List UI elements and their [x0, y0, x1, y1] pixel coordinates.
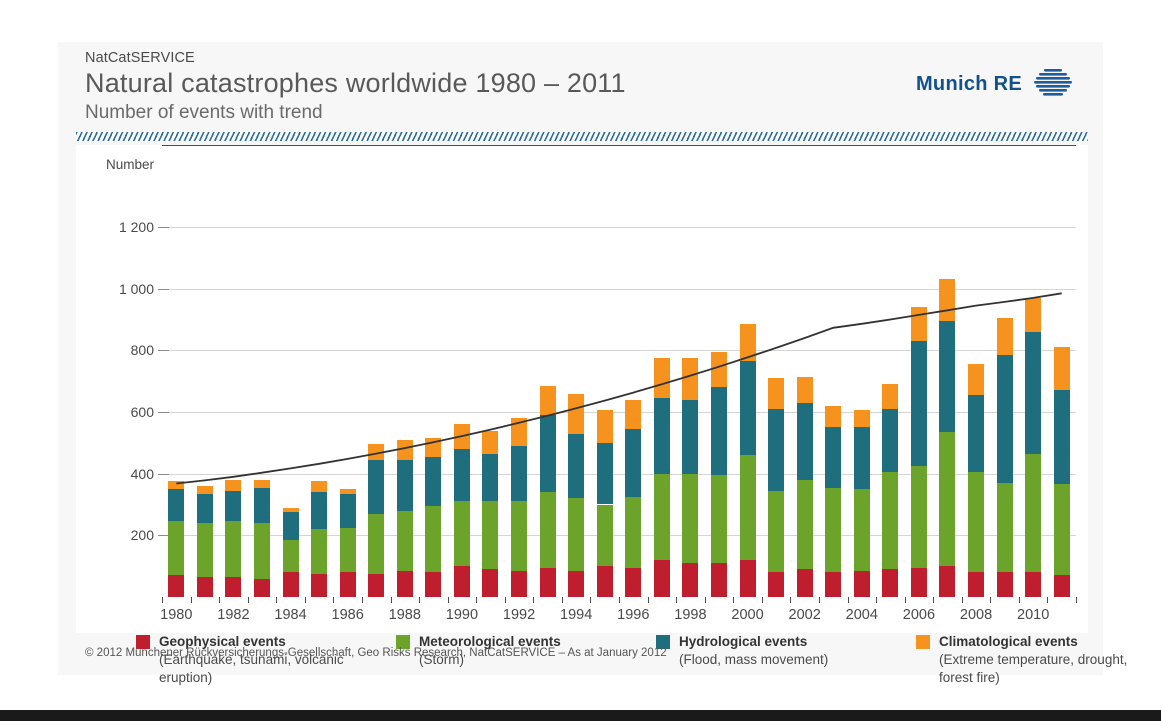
bar-segment [797, 403, 813, 480]
bar-1994[interactable] [568, 227, 584, 597]
bar-1988[interactable] [397, 227, 413, 597]
bar-1983[interactable] [254, 227, 270, 597]
bar-segment [482, 454, 498, 502]
bar-1986[interactable] [340, 227, 356, 597]
bar-segment [740, 560, 756, 597]
bar-segment [197, 486, 213, 494]
bar-segment [968, 395, 984, 472]
x-tick-label: 1996 [617, 607, 649, 623]
x-tick [248, 597, 249, 603]
x-tick [162, 597, 163, 603]
bar-segment [540, 492, 556, 568]
bar-segment [740, 455, 756, 560]
bar-segment [540, 415, 556, 492]
x-tick [819, 597, 820, 603]
bar-2011[interactable] [1054, 227, 1070, 597]
y-axis-title: Number [106, 157, 154, 172]
x-tick [505, 597, 506, 603]
bar-segment [911, 466, 927, 568]
bar-segment [711, 387, 727, 475]
bar-segment [882, 384, 898, 409]
bar-1995[interactable] [597, 227, 613, 597]
bar-1981[interactable] [197, 227, 213, 597]
bar-segment [340, 494, 356, 528]
bar-1985[interactable] [311, 227, 327, 597]
bar-segment [740, 361, 756, 455]
bar-segment [682, 358, 698, 400]
bar-segment [654, 358, 670, 398]
bar-segment [397, 511, 413, 571]
bar-1998[interactable] [682, 227, 698, 597]
x-tick-label: 1992 [503, 607, 535, 623]
x-tick [933, 597, 934, 603]
bar-segment [768, 409, 784, 491]
eyebrow-label: NatCatSERVICE [85, 50, 195, 66]
x-tick-label: 1984 [274, 607, 306, 623]
bar-segment [540, 386, 556, 415]
y-tick-label: 1 200 [84, 219, 154, 235]
bar-segment [1054, 484, 1070, 575]
bar-segment [597, 410, 613, 442]
x-tick-label: 1986 [332, 607, 364, 623]
slide-footer: © 2012 Münchener Rückversicherungs-Gesel… [58, 639, 1103, 675]
bar-segment [968, 364, 984, 395]
bar-segment [283, 508, 299, 513]
bar-segment [682, 400, 698, 474]
bar-segment [711, 352, 727, 387]
bar-segment [597, 566, 613, 597]
x-tick-label: 1990 [446, 607, 478, 623]
bar-segment [654, 474, 670, 560]
bar-segment [682, 474, 698, 563]
x-tick [1047, 597, 1048, 603]
bar-segment [997, 483, 1013, 572]
bar-segment [854, 489, 870, 571]
bar-2002[interactable] [797, 227, 813, 597]
x-tick [733, 597, 734, 603]
bar-segment [425, 572, 441, 597]
bar-segment [854, 571, 870, 597]
bar-segment [225, 480, 241, 491]
slide-page: NatCatSERVICE Natural catastrophes world… [0, 0, 1161, 725]
x-tick [1076, 597, 1077, 603]
bar-segment [882, 472, 898, 569]
x-tick [990, 597, 991, 603]
bar-1989[interactable] [425, 227, 441, 597]
bar-1999[interactable] [711, 227, 727, 597]
bar-segment [254, 488, 270, 523]
bar-segment [340, 528, 356, 573]
bar-segment [254, 579, 270, 598]
bar-segment [511, 571, 527, 597]
x-tick [362, 597, 363, 603]
bar-segment [454, 449, 470, 501]
bar-segment [340, 572, 356, 597]
x-tick [219, 597, 220, 603]
bar-segment [311, 574, 327, 597]
bar-1990[interactable] [454, 227, 470, 597]
x-tick-label: 2010 [1017, 607, 1049, 623]
x-axis-line [162, 145, 1076, 146]
bar-segment [397, 571, 413, 597]
x-tick-label: 1994 [560, 607, 592, 623]
bar-segment [425, 506, 441, 572]
bar-segment [425, 457, 441, 506]
x-tick [619, 597, 620, 603]
x-tick [790, 597, 791, 603]
bar-segment [283, 572, 299, 597]
x-tick [533, 597, 534, 603]
bar-2004[interactable] [854, 227, 870, 597]
bar-segment [254, 480, 270, 488]
bar-segment [197, 494, 213, 523]
bar-segment [740, 324, 756, 361]
bottom-bar [0, 710, 1161, 721]
bar-segment [711, 475, 727, 563]
bar-segment [882, 569, 898, 597]
bar-segment [797, 377, 813, 403]
bar-segment [511, 446, 527, 502]
bar-segment [625, 400, 641, 429]
bar-segment [340, 489, 356, 494]
bar-segment [511, 418, 527, 446]
x-tick-label: 2006 [903, 607, 935, 623]
bar-segment [939, 321, 955, 432]
page-subtitle: Number of events with trend [85, 102, 323, 124]
copyright-text: © 2012 Münchener Rückversicherungs-Gesel… [85, 647, 667, 659]
bar-segment [311, 529, 327, 574]
bar-1991[interactable] [482, 227, 498, 597]
bar-segment [825, 572, 841, 597]
bar-segment [911, 307, 927, 341]
bar-segment [168, 521, 184, 575]
bar-segment [197, 523, 213, 577]
bar-segment [225, 521, 241, 577]
y-tick-label: 200 [84, 527, 154, 543]
bar-segment [568, 394, 584, 434]
bar-segment [454, 501, 470, 566]
x-tick [648, 597, 649, 603]
bar-segment [568, 498, 584, 570]
bar-segment [482, 501, 498, 569]
bar-1982[interactable] [225, 227, 241, 597]
slide-card: NatCatSERVICE Natural catastrophes world… [58, 42, 1103, 675]
bar-segment [825, 427, 841, 487]
bar-segment [368, 460, 384, 514]
bar-segment [825, 488, 841, 573]
x-tick [333, 597, 334, 603]
bar-segment [1054, 575, 1070, 597]
x-tick [391, 597, 392, 603]
hatched-divider [76, 132, 1088, 141]
bar-segment [997, 355, 1013, 483]
bar-2008[interactable] [968, 227, 984, 597]
bar-segment [368, 444, 384, 459]
y-tick-label: 800 [84, 342, 154, 358]
bar-segment [797, 480, 813, 569]
bar-segment [540, 568, 556, 597]
bar-segment [368, 574, 384, 597]
bar-segment [568, 571, 584, 597]
x-tick [905, 597, 906, 603]
bar-segment [1025, 298, 1041, 332]
x-tick [848, 597, 849, 603]
bar-segment [968, 572, 984, 597]
bar-2009[interactable] [997, 227, 1013, 597]
bar-segment [168, 575, 184, 597]
bar-segment [311, 481, 327, 492]
bar-segment [997, 318, 1013, 355]
x-tick [419, 597, 420, 603]
x-tick [590, 597, 591, 603]
bar-segment [825, 406, 841, 428]
bar-segment [911, 341, 927, 466]
bar-segment [397, 440, 413, 460]
bar-segment [283, 512, 299, 540]
x-tick [705, 597, 706, 603]
bar-segment [397, 460, 413, 511]
bar-segment [854, 410, 870, 427]
x-tick-label: 1998 [674, 607, 706, 623]
x-tick-label: 1982 [217, 607, 249, 623]
bar-segment [425, 438, 441, 457]
bar-segment [197, 577, 213, 597]
bar-segment [939, 566, 955, 597]
x-tick [962, 597, 963, 603]
bar-1980[interactable] [168, 227, 184, 597]
bar-segment [283, 540, 299, 572]
bar-segment [168, 489, 184, 521]
bar-segment [711, 563, 727, 597]
munich-re-globe-icon [1031, 67, 1075, 101]
bar-1992[interactable] [511, 227, 527, 597]
bar-segment [1025, 332, 1041, 454]
x-tick-label: 2000 [731, 607, 763, 623]
y-tick-label: 600 [84, 404, 154, 420]
bar-segment [1054, 347, 1070, 390]
bar-2003[interactable] [825, 227, 841, 597]
bar-segment [654, 560, 670, 597]
slide-header: NatCatSERVICE Natural catastrophes world… [58, 42, 1103, 130]
page-title: Natural catastrophes worldwide 1980 – 20… [85, 68, 626, 99]
x-tick [876, 597, 877, 603]
bar-segment [682, 563, 698, 597]
bar-segment [597, 443, 613, 505]
bar-segment [1025, 454, 1041, 573]
x-tick [562, 597, 563, 603]
bar-segment [625, 429, 641, 497]
bar-segment [254, 523, 270, 579]
x-tick [676, 597, 677, 603]
chart-panel: Number 2004006008001 0001 200 1980198219… [76, 145, 1088, 633]
x-tick [448, 597, 449, 603]
bar-segment [625, 497, 641, 568]
bar-2007[interactable] [939, 227, 955, 597]
bar-segment [939, 279, 955, 321]
logo-wordmark: Munich RE [916, 73, 1022, 96]
bar-segment [454, 424, 470, 449]
bar-segment [854, 427, 870, 489]
bar-segment [882, 409, 898, 472]
x-tick-label: 1988 [389, 607, 421, 623]
bar-segment [511, 501, 527, 570]
bar-segment [939, 432, 955, 566]
bar-segment [568, 434, 584, 499]
x-tick [191, 597, 192, 603]
bar-segment [1025, 572, 1041, 597]
bar-segment [797, 569, 813, 597]
bar-segment [454, 566, 470, 597]
y-tick-label: 1 000 [84, 281, 154, 297]
bar-segment [911, 568, 927, 597]
bar-2010[interactable] [1025, 227, 1041, 597]
bar-segment [482, 431, 498, 454]
bar-segment [625, 568, 641, 597]
bar-segment [768, 572, 784, 597]
bar-2005[interactable] [882, 227, 898, 597]
bar-1996[interactable] [625, 227, 641, 597]
bar-segment [597, 505, 613, 567]
bar-1993[interactable] [540, 227, 556, 597]
x-tick [762, 597, 763, 603]
munich-re-logo: Munich RE [916, 67, 1075, 101]
bar-segment [654, 398, 670, 474]
bar-segment [482, 569, 498, 597]
bar-1987[interactable] [368, 227, 384, 597]
bar-segment [997, 572, 1013, 597]
chart-plot-area: Number 2004006008001 0001 200 1980198219… [76, 145, 1088, 633]
x-tick-label: 2008 [960, 607, 992, 623]
x-tick [305, 597, 306, 603]
x-tick-label: 2004 [846, 607, 878, 623]
bar-1997[interactable] [654, 227, 670, 597]
bar-1984[interactable] [283, 227, 299, 597]
bar-segment [768, 491, 784, 573]
bar-segment [311, 492, 327, 529]
y-tick-label: 400 [84, 466, 154, 482]
bar-2006[interactable] [911, 227, 927, 597]
x-tick [276, 597, 277, 603]
bar-segment [225, 577, 241, 597]
bar-segment [168, 481, 184, 489]
x-tick [476, 597, 477, 603]
x-tick-label: 2002 [789, 607, 821, 623]
bar-segment [1054, 390, 1070, 484]
bar-segment [768, 378, 784, 409]
x-tick [1019, 597, 1020, 603]
bar-2001[interactable] [768, 227, 784, 597]
x-tick-label: 1980 [160, 607, 192, 623]
bar-segment [225, 491, 241, 522]
bar-segment [968, 472, 984, 572]
bar-2000[interactable] [740, 227, 756, 597]
bar-segment [368, 514, 384, 574]
